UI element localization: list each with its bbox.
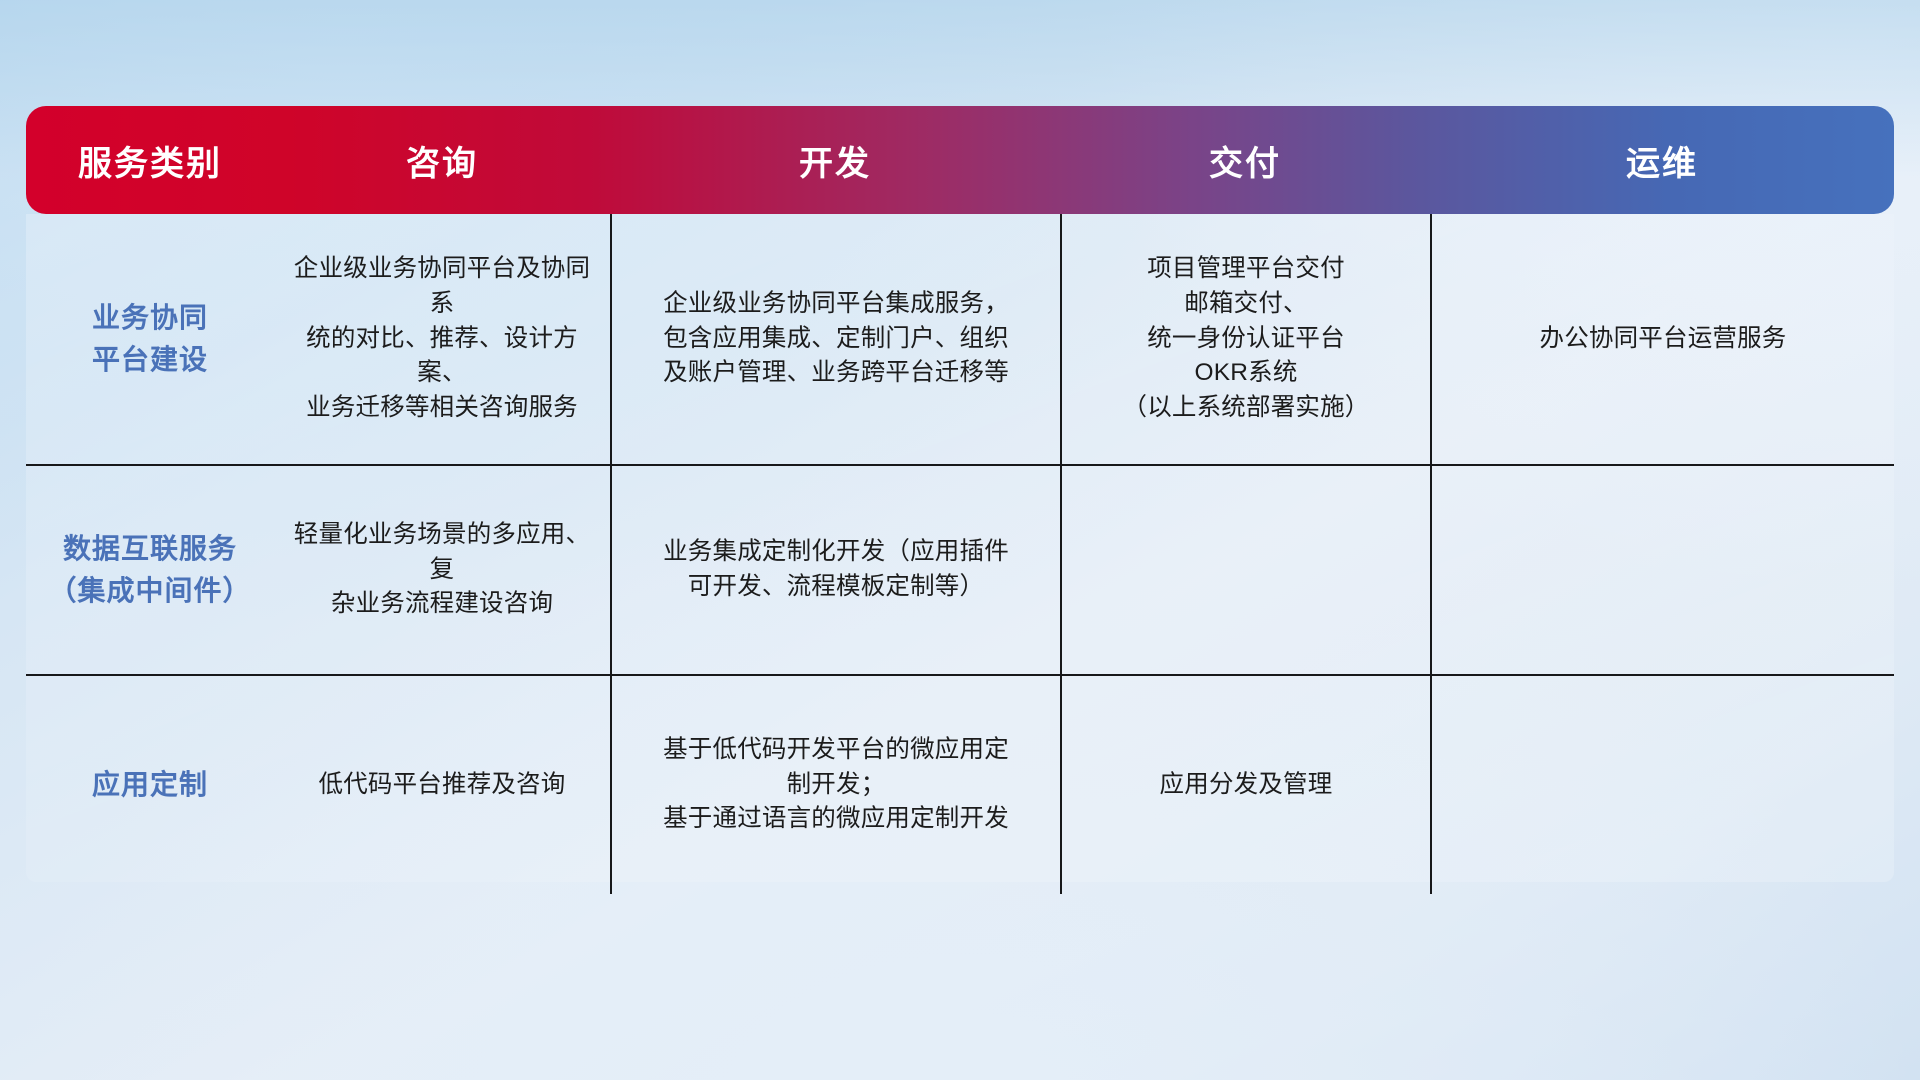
cell-r0-delivery: 项目管理平台交付 邮箱交付、 统一身份认证平台 OKR系统 （以上系统部署实施） <box>1060 214 1430 464</box>
row-label-application-customization: 应用定制 <box>26 674 274 894</box>
service-matrix-table-container: 服务类别 咨询 开发 交付 运维 <box>26 106 1894 954</box>
table-row: 数据互联服务 （集成中间件） 轻量化业务场景的多应用、复 杂业务流程建设咨询 业… <box>26 464 1894 674</box>
cell-r2-operations <box>1430 674 1894 894</box>
column-header-label-4: 运维 <box>1430 136 1894 185</box>
page-root: 服务类别 咨询 开发 交付 运维 <box>0 0 1920 1080</box>
column-header-consulting: 咨询 <box>274 106 610 214</box>
cell-r2-delivery: 应用分发及管理 <box>1060 674 1430 894</box>
table-header-row: 服务类别 咨询 开发 交付 运维 <box>26 106 1894 214</box>
cell-r2-development: 基于低代码开发平台的微应用定 制开发； 基于通过语言的微应用定制开发 <box>610 674 1060 894</box>
row-label-data-interconnect: 数据互联服务 （集成中间件） <box>26 464 274 674</box>
cell-r2-consulting: 低代码平台推荐及咨询 <box>274 674 610 894</box>
column-header-development: 开发 <box>610 106 1060 214</box>
cell-r1-development: 业务集成定制化开发（应用插件 可开发、流程模板定制等） <box>610 464 1060 674</box>
cell-r1-consulting: 轻量化业务场景的多应用、复 杂业务流程建设咨询 <box>274 464 610 674</box>
cell-r1-operations <box>1430 464 1894 674</box>
cell-r0-operations: 办公协同平台运营服务 <box>1430 214 1894 464</box>
column-header-operations: 运维 <box>1430 106 1894 214</box>
row-label-business-collaboration: 业务协同 平台建设 <box>26 214 274 464</box>
table-body: 业务协同 平台建设 企业级业务协同平台及协同系 统的对比、推荐、设计方案、 业务… <box>26 214 1894 894</box>
column-header-label-3: 交付 <box>1060 136 1430 185</box>
service-matrix-table: 服务类别 咨询 开发 交付 运维 <box>26 106 1894 894</box>
column-header-service-category: 服务类别 <box>26 106 274 214</box>
cell-r0-consulting: 企业级业务协同平台及协同系 统的对比、推荐、设计方案、 业务迁移等相关咨询服务 <box>274 214 610 464</box>
cell-r1-delivery <box>1060 464 1430 674</box>
cell-r0-development: 企业级业务协同平台集成服务， 包含应用集成、定制门户、组织 及账户管理、业务跨平… <box>610 214 1060 464</box>
table-row: 业务协同 平台建设 企业级业务协同平台及协同系 统的对比、推荐、设计方案、 业务… <box>26 214 1894 464</box>
table-header: 服务类别 咨询 开发 交付 运维 <box>26 106 1894 214</box>
table-row: 应用定制 低代码平台推荐及咨询 基于低代码开发平台的微应用定 制开发； 基于通过… <box>26 674 1894 894</box>
column-header-label-2: 开发 <box>610 136 1060 185</box>
column-header-label-0: 服务类别 <box>26 136 274 185</box>
column-header-delivery: 交付 <box>1060 106 1430 214</box>
column-header-label-1: 咨询 <box>274 136 610 185</box>
